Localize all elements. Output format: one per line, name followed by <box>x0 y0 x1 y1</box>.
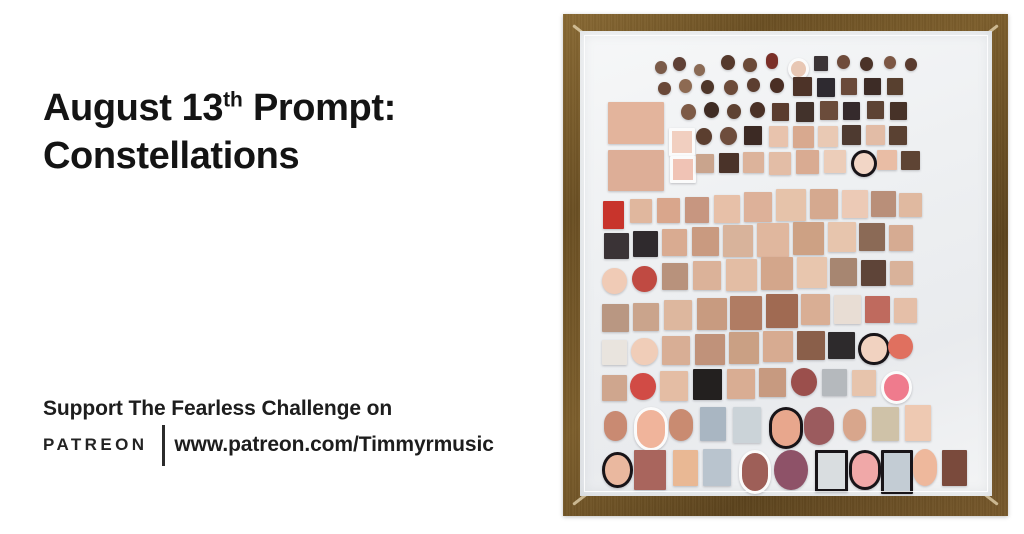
mosaic-tile <box>776 189 806 221</box>
mosaic-tile <box>726 259 757 292</box>
mosaic-tile <box>887 78 903 95</box>
mosaic-tile <box>884 56 896 69</box>
mosaic-tile <box>770 78 784 93</box>
mosaic-tile <box>864 78 881 96</box>
mosaic-tile <box>632 266 656 292</box>
mosaic-tile <box>700 407 726 441</box>
mosaic-tile <box>634 450 666 490</box>
mosaic-tile <box>824 150 846 174</box>
mosaic-tile <box>889 225 913 251</box>
mosaic-tile <box>657 198 680 223</box>
mosaic-tile <box>796 150 819 175</box>
mosaic-tile <box>834 295 861 324</box>
mosaic-tile <box>791 368 817 396</box>
artwork-panel <box>545 0 1024 534</box>
mosaic-tile <box>772 103 789 121</box>
mosaic-tile <box>759 368 786 397</box>
patreon-url-link[interactable]: www.patreon.com/Timmyrmusic <box>174 433 493 457</box>
mosaic-tile <box>633 231 657 257</box>
mosaic-tile <box>604 233 628 259</box>
mosaic-tile <box>761 257 793 291</box>
page-title: August 13th Prompt: Constellations <box>43 84 513 180</box>
mosaic-tile <box>841 78 858 96</box>
mosaic-tile <box>842 125 861 145</box>
mosaic-tile <box>793 222 824 255</box>
mosaic-tile <box>894 298 917 323</box>
mosaic-tile <box>769 126 789 147</box>
mosaic-tile <box>889 126 907 145</box>
text-panel: August 13th Prompt: Constellations Suppo… <box>0 0 545 534</box>
mosaic-tile <box>693 261 721 291</box>
mosaic-tile <box>703 449 731 487</box>
title-line-1: August 13th Prompt: <box>43 84 513 132</box>
mosaic-tile <box>815 450 847 492</box>
mosaic-tile <box>818 126 838 147</box>
mosaic-tile <box>602 340 626 366</box>
mosaic-tile <box>603 201 624 229</box>
mosaic-tile <box>817 78 835 97</box>
mosaic-tile <box>793 126 814 148</box>
mosaic-tile <box>724 80 738 95</box>
mosaic-tile <box>727 104 741 119</box>
mosaic-tile <box>633 303 659 331</box>
mosaic-tile <box>694 64 705 76</box>
mosaic-tile <box>890 261 913 286</box>
mosaic-tile <box>797 331 825 361</box>
mosaic-tile <box>852 370 876 396</box>
mosaic-tile <box>801 294 830 325</box>
mosaic-tile <box>828 222 856 252</box>
mosaic-tile <box>662 263 688 291</box>
mosaic-tile <box>679 79 692 93</box>
mosaic-tile <box>660 371 688 401</box>
mosaic-tile <box>634 407 668 451</box>
mosaic-tile <box>769 152 791 176</box>
mosaic-tile <box>730 296 762 330</box>
mosaic-tile <box>861 260 886 287</box>
mosaic-tile <box>681 104 696 120</box>
mosaic-tile <box>631 338 657 366</box>
mosaic-tile <box>664 300 692 330</box>
mosaic-tile <box>723 225 753 257</box>
frame-mat <box>580 31 992 496</box>
mosaic-tile <box>608 150 664 192</box>
mosaic-tile <box>881 450 913 494</box>
mosaic-tile <box>810 189 838 219</box>
mosaic-tile <box>905 58 917 71</box>
mosaic-tile <box>720 127 737 145</box>
mosaic-tile <box>743 152 764 174</box>
mosaic-tile <box>797 257 827 289</box>
mosaic-tile <box>842 190 868 218</box>
mosaic-tile <box>867 101 884 119</box>
mosaic-tile <box>719 153 739 174</box>
mosaic-tile <box>899 193 921 217</box>
mosaic-tile <box>658 82 670 95</box>
mosaic-tile <box>913 449 937 487</box>
mosaic-tile <box>602 304 628 332</box>
slide-root: August 13th Prompt: Constellations Suppo… <box>0 0 1024 534</box>
mosaic-tile <box>696 128 712 145</box>
mosaic-tile <box>877 150 897 171</box>
mosaic-tile <box>828 332 854 360</box>
mosaic-tile <box>757 223 789 257</box>
mosaic-tile <box>685 197 709 223</box>
mosaic-tile <box>630 373 655 400</box>
mosaic-tile <box>669 409 693 441</box>
mosaic-tile <box>744 192 772 222</box>
patreon-logo: PATREON <box>43 435 147 455</box>
mosaic-tile <box>837 55 850 69</box>
mosaic-tile <box>774 450 808 490</box>
mosaic-tile <box>822 369 847 396</box>
mosaic-tile <box>696 154 715 174</box>
mosaic-tile <box>692 227 719 256</box>
mosaic-tile <box>670 156 697 184</box>
mosaic-tile <box>793 77 812 97</box>
mosaic-tile <box>602 375 626 401</box>
mosaic-tile <box>695 334 725 366</box>
mosaic-tile <box>630 199 652 223</box>
mosaic-tile <box>881 371 912 404</box>
mosaic-tile <box>942 450 966 486</box>
mosaic-tile <box>662 336 690 366</box>
mosaic-tile <box>673 57 686 71</box>
mosaic-tile <box>901 151 920 171</box>
mosaic-tile <box>843 102 860 120</box>
mosaic-collage-artwork <box>580 31 992 496</box>
mosaic-tile <box>697 298 727 330</box>
mosaic-tile <box>872 407 898 441</box>
mosaic-tile <box>743 58 756 72</box>
mosaic-tile <box>830 258 857 287</box>
mosaic-tile <box>871 191 895 217</box>
mosaic-tile <box>733 407 761 443</box>
mosaic-tile <box>766 53 778 69</box>
patreon-row: PATREON www.patreon.com/Timmyrmusic <box>43 430 543 460</box>
mosaic-tile <box>602 268 626 294</box>
mosaic-tile <box>693 369 722 400</box>
mosaic-tile <box>729 332 760 365</box>
mosaic-tile <box>750 102 765 118</box>
mosaic-tile <box>704 102 719 118</box>
mosaic-tile <box>766 294 798 328</box>
mosaic-tile <box>860 57 873 71</box>
title-ordinal-suffix: th <box>223 88 243 111</box>
mosaic-tile <box>859 223 885 251</box>
mosaic-tile <box>673 450 697 486</box>
mosaic-tile <box>851 150 878 178</box>
title-prompt-word: Prompt: <box>243 87 396 129</box>
title-prompt-date: August 13 <box>43 87 223 129</box>
support-call-to-action: Support The Fearless Challenge on <box>43 395 543 423</box>
mosaic-tile <box>727 369 755 399</box>
mosaic-tile <box>744 126 762 145</box>
mosaic-tile <box>747 78 760 92</box>
mosaic-tile <box>739 450 771 494</box>
picture-frame <box>563 14 1008 516</box>
mosaic-tile <box>602 452 632 488</box>
mosaic-tile <box>669 128 696 156</box>
mosaic-tile <box>814 56 828 71</box>
mosaic-tile <box>843 409 865 441</box>
mosaic-tile <box>849 450 881 490</box>
vertical-divider <box>162 425 165 466</box>
mosaic-tile <box>714 195 740 223</box>
mosaic-tile <box>866 125 885 145</box>
mosaic-tile <box>655 61 667 74</box>
mosaic-tile <box>890 102 907 120</box>
mosaic-tile <box>701 80 714 94</box>
mosaic-tile <box>608 102 664 144</box>
title-line-2: Constellations <box>43 132 513 180</box>
mosaic-tile <box>905 405 931 441</box>
mosaic-tile <box>858 333 889 366</box>
mosaic-tile <box>662 229 687 256</box>
mosaic-tile <box>865 296 890 323</box>
mosaic-tile <box>769 407 803 449</box>
mosaic-tile <box>796 102 815 122</box>
mosaic-tile <box>721 55 735 70</box>
mosaic-tile <box>888 334 912 360</box>
mosaic-tile <box>763 331 793 363</box>
mosaic-tile <box>820 101 838 120</box>
support-block: Support The Fearless Challenge on PATREO… <box>43 395 543 460</box>
mosaic-tile <box>604 411 626 441</box>
mosaic-tile <box>804 407 834 445</box>
